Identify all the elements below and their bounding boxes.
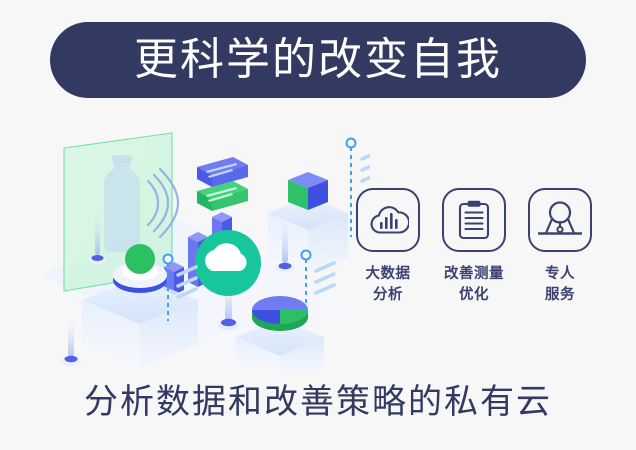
feature-label-big-data: 大数据 分析	[366, 264, 411, 306]
feature-item-support[interactable]: 专人 服务	[524, 188, 596, 306]
support-person-icon	[538, 200, 582, 240]
promo-banner: 更科学的改变自我	[0, 0, 636, 450]
feature-label-support: 专人 服务	[545, 264, 575, 306]
feature-icon-frame-2	[442, 188, 506, 252]
feature-label-measurement: 改善测量 优化	[444, 264, 504, 306]
feature-item-big-data[interactable]: 大数据 分析	[352, 188, 424, 306]
green-blue-cube	[288, 172, 328, 210]
cloud-bar-chart-icon	[367, 202, 409, 238]
feature-icon-frame-1	[356, 188, 420, 252]
illustration	[40, 125, 370, 370]
header-pill: 更科学的改变自我	[50, 22, 586, 98]
blue-tag-card	[197, 157, 248, 187]
page-title: 更科学的改变自我	[134, 38, 502, 82]
feature-item-measurement[interactable]: 改善测量 优化	[438, 188, 510, 306]
clipboard-icon	[457, 200, 491, 240]
feature-list: 大数据 分析 改善测量 优化	[352, 188, 596, 306]
footer-caption: 分析数据和改善策略的私有云	[0, 382, 636, 423]
left-pole-marker	[61, 315, 81, 366]
green-tag-card	[197, 181, 248, 211]
feature-icon-frame-3	[528, 188, 592, 252]
